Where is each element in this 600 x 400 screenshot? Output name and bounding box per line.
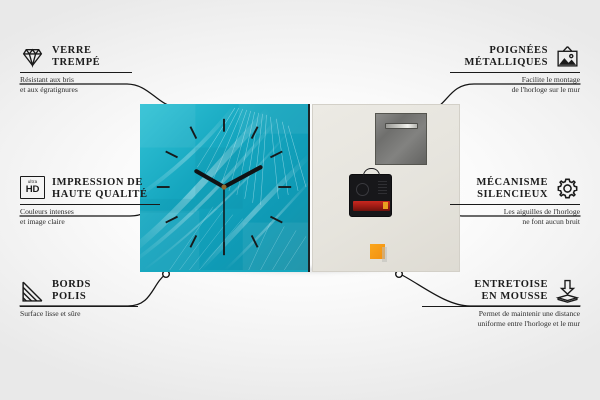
foam-spacer: [370, 244, 385, 259]
infographic-canvas: VERRE TREMPÉ Résistant aux bris et aux é…: [0, 0, 600, 400]
feature-subtitle: Les aiguilles de l'horloge ne font aucun…: [450, 207, 580, 226]
feature-rule: [20, 306, 138, 307]
gear-icon: [555, 176, 580, 201]
clock-back-panel: [312, 104, 460, 272]
mechanism-vents: [378, 181, 387, 195]
feature-title: BORDS POLIS: [52, 279, 91, 303]
feature-entretoise-en-mousse: ENTRETOISE EN MOUSSE Permet de maintenir…: [422, 278, 580, 328]
feature-subtitle: Surface lisse et sûre: [20, 309, 138, 319]
feature-subtitle: Permet de maintenir une distance uniform…: [422, 309, 580, 328]
feature-mecanisme-silencieux: MÉCANISME SILENCIEUX Les aiguilles de l'…: [450, 176, 580, 226]
minute-hand: [224, 167, 261, 187]
feature-rule: [450, 204, 580, 205]
hd-badge-main: HD: [26, 185, 39, 195]
feature-title: POIGNÉES MÉTALLIQUES: [465, 45, 548, 69]
hanging-loop: [363, 168, 380, 177]
feature-verre-trempe: VERRE TREMPÉ Résistant aux bris et aux é…: [20, 44, 132, 94]
hanger-slot: [385, 123, 418, 129]
shaft-ring: [356, 183, 369, 196]
metal-hanger-plate: [375, 113, 427, 165]
clock-face: [140, 104, 310, 272]
feature-bords-polis: BORDS POLIS Surface lisse et sûre: [20, 278, 138, 319]
feature-subtitle: Facilite le montage de l'horloge sur le …: [450, 75, 580, 94]
quartz-mechanism-box: [349, 174, 392, 217]
ultra-hd-badge-icon: ultra HD: [20, 176, 45, 201]
feature-poignees-metalliques: POIGNÉES MÉTALLIQUES Facilite le montage…: [450, 44, 580, 94]
square-wall-clock: [140, 104, 460, 274]
feature-title: VERRE TREMPÉ: [52, 45, 100, 69]
feature-title: IMPRESSION DE HAUTE QUALITÉ: [52, 177, 148, 201]
feature-rule: [20, 204, 160, 205]
diamond-icon: [20, 44, 45, 69]
feature-title: MÉCANISME SILENCIEUX: [477, 177, 548, 201]
arrow-down-onto-pad-icon: [555, 278, 580, 303]
feature-subtitle: Résistant aux bris et aux égratignures: [20, 75, 132, 94]
hands-hub: [221, 184, 226, 189]
hour-hand: [196, 171, 224, 187]
battery: [353, 201, 390, 211]
feature-rule: [20, 72, 132, 73]
feature-impression-haute-qualite: ultra HD IMPRESSION DE HAUTE QUALITÉ Cou…: [20, 176, 160, 226]
feature-subtitle: Couleurs intenses et image claire: [20, 207, 160, 226]
feature-rule: [422, 306, 580, 307]
feature-rule: [450, 72, 580, 73]
hanging-frame-icon: [555, 44, 580, 69]
feature-title: ENTRETOISE EN MOUSSE: [474, 279, 548, 303]
polished-edge-lines-icon: [20, 278, 45, 303]
clock-dial: [140, 104, 308, 270]
